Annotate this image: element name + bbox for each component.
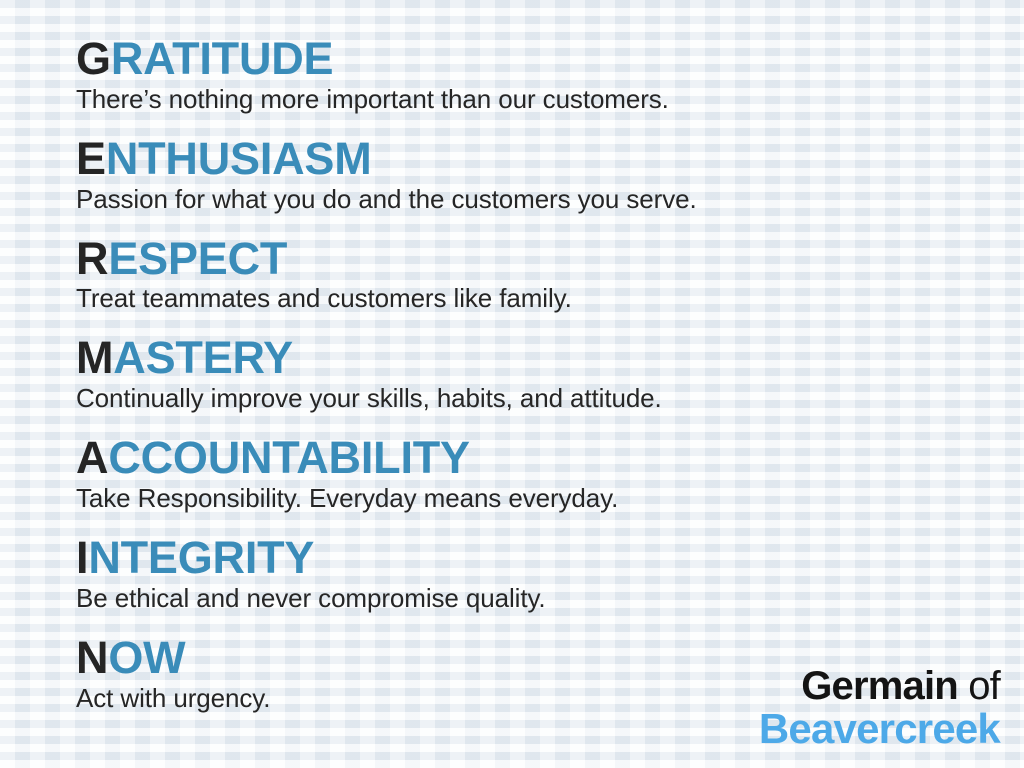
value-description-gratitude: There’s nothing more important than our … <box>76 85 1004 115</box>
value-block-integrity: INTEGRITY Be ethical and never compromis… <box>76 535 1004 614</box>
value-heading-respect: RESPECT <box>76 236 1004 282</box>
value-heading-integrity: INTEGRITY <box>76 535 1004 581</box>
value-initial-letter: R <box>76 233 108 284</box>
value-heading-rest: OW <box>108 632 185 683</box>
value-initial-letter: G <box>76 33 111 84</box>
value-heading-mastery: MASTERY <box>76 335 1004 381</box>
value-heading-rest: NTEGRITY <box>88 532 314 583</box>
value-description-mastery: Continually improve your skills, habits,… <box>76 384 1004 414</box>
value-description-enthusiasm: Passion for what you do and the customer… <box>76 185 1004 215</box>
value-heading-rest: ASTERY <box>113 332 293 383</box>
values-slide: GRATITUDE There’s nothing more important… <box>0 0 1024 768</box>
value-heading-rest: CCOUNTABILITY <box>108 432 470 483</box>
value-block-gratitude: GRATITUDE There’s nothing more important… <box>76 36 1004 115</box>
value-initial-letter: M <box>76 332 113 383</box>
value-initial-letter: N <box>76 632 108 683</box>
value-description-integrity: Be ethical and never compromise quality. <box>76 584 1004 614</box>
value-initial-letter: I <box>76 532 88 583</box>
logo-location-name: Beavercreek <box>759 708 1000 750</box>
logo-brand-name: Germain <box>801 664 958 708</box>
value-heading-rest: RATITUDE <box>111 33 334 84</box>
value-heading-enthusiasm: ENTHUSIASM <box>76 136 1004 182</box>
logo-line-top: Germain of <box>759 666 1000 706</box>
value-description-respect: Treat teammates and customers like famil… <box>76 284 1004 314</box>
value-heading-rest: NTHUSIASM <box>106 133 372 184</box>
value-initial-letter: E <box>76 133 106 184</box>
value-block-enthusiasm: ENTHUSIASM Passion for what you do and t… <box>76 136 1004 215</box>
value-block-accountability: ACCOUNTABILITY Take Responsibility. Ever… <box>76 435 1004 514</box>
value-heading-accountability: ACCOUNTABILITY <box>76 435 1004 481</box>
value-description-accountability: Take Responsibility. Everyday means ever… <box>76 484 1004 514</box>
dealership-logo: Germain of Beavercreek <box>759 666 1000 750</box>
value-block-respect: RESPECT Treat teammates and customers li… <box>76 236 1004 315</box>
values-list: GRATITUDE There’s nothing more important… <box>76 36 1004 758</box>
value-heading-rest: ESPECT <box>108 233 287 284</box>
value-block-mastery: MASTERY Continually improve your skills,… <box>76 335 1004 414</box>
logo-connector-word: of <box>958 664 1000 708</box>
value-heading-gratitude: GRATITUDE <box>76 36 1004 82</box>
value-initial-letter: A <box>76 432 108 483</box>
